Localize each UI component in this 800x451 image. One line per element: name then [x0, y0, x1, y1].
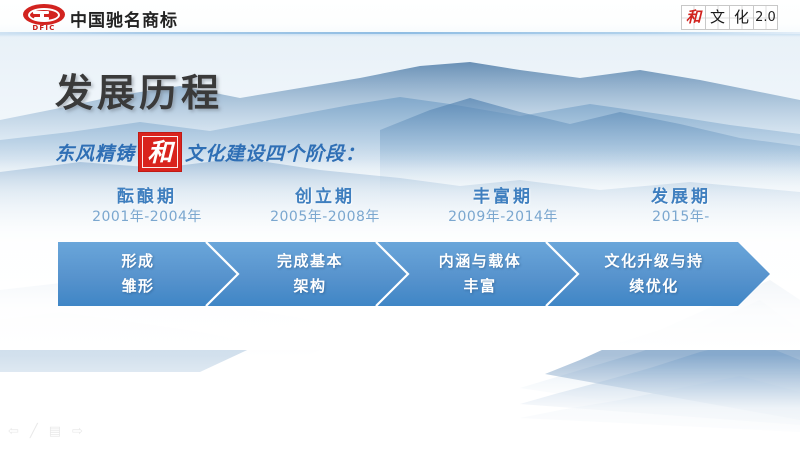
stage-name-2: 创立期 — [236, 186, 414, 208]
chevron-text-2: 完成基本 架构 — [230, 249, 390, 299]
chevron-text-3-line1: 内涵与载体 — [400, 249, 560, 274]
header-divider-glow — [0, 34, 800, 37]
badge-char-hua: 化 — [734, 10, 749, 25]
next-arrow-icon[interactable]: ⇨ — [72, 424, 83, 437]
badge-version-text: 2.0 — [755, 11, 776, 24]
chevron-text-4-line1: 文化升级与持 — [570, 249, 738, 274]
subtitle-prefix: 东风精铸 — [55, 139, 135, 166]
page-title: 发展历程 — [55, 62, 223, 117]
brand-name-cn: 中国驰名商标 — [70, 6, 178, 31]
mist-fade-lower — [0, 355, 800, 451]
pen-icon[interactable]: ╱ — [30, 424, 38, 437]
stage-label-2: 创立期 2005年-2008年 — [236, 186, 414, 226]
chevron-text-3: 内涵与载体 丰富 — [400, 249, 560, 299]
stage-years-1: 2001年-2004年 — [58, 208, 236, 226]
chevron-text-2-line1: 完成基本 — [230, 249, 390, 274]
chevron-text-1: 形成 雏形 — [58, 249, 218, 299]
subtitle-suffix: 文化建设四个阶段： — [185, 139, 365, 166]
stage-name-4: 发展期 — [592, 186, 770, 208]
chevron-text-4: 文化升级与持 续优化 — [570, 249, 738, 299]
logo-wordmark: DFIC — [23, 24, 65, 32]
he-seal-icon: 和 — [139, 133, 181, 171]
badge-char-he: 和 — [686, 10, 701, 25]
chevron-text-4-line2: 续优化 — [570, 274, 738, 299]
logo-oval-shape — [23, 4, 65, 25]
badge-cell-wen: 文 — [705, 5, 730, 30]
stage-labels-row: 酝酿期 2001年-2004年 创立期 2005年-2008年 丰富期 2009… — [58, 186, 770, 238]
logo-foot-shape — [34, 17, 49, 20]
dfic-logo-icon: DFIC — [20, 4, 68, 32]
subtitle-line: 东风精铸 和 文化建设四个阶段： — [55, 132, 365, 172]
slide-canvas: DFIC 中国驰名商标 和 文 化 2.0 发展历程 东风精铸 和 文化建设四个… — [0, 0, 800, 451]
stage-years-3: 2009年-2014年 — [414, 208, 592, 226]
badge-cell-he: 和 — [681, 5, 706, 30]
stage-label-3: 丰富期 2009年-2014年 — [414, 186, 592, 226]
badge-cell-hua: 化 — [729, 5, 754, 30]
menu-icon[interactable]: ▤ — [49, 424, 61, 437]
stage-name-3: 丰富期 — [414, 186, 592, 208]
chevron-text-3-line2: 丰富 — [400, 274, 560, 299]
stage-name-1: 酝酿期 — [58, 186, 236, 208]
stage-label-4: 发展期 2015年- — [592, 186, 770, 226]
stage-years-4: 2015年- — [592, 208, 770, 226]
chevron-text-2-line2: 架构 — [230, 274, 390, 299]
he-seal-char: 和 — [148, 140, 173, 165]
stage-label-1: 酝酿期 2001年-2004年 — [58, 186, 236, 226]
badge-cell-version: 2.0 — [753, 5, 778, 30]
stage-years-2: 2005年-2008年 — [236, 208, 414, 226]
chevron-text-1-line1: 形成 — [58, 249, 218, 274]
timeline-chevron-bar: 形成 雏形 完成基本 架构 内涵与载体 丰富 文化升级与持 续优化 — [58, 242, 770, 306]
prev-arrow-icon[interactable]: ⇦ — [8, 424, 19, 437]
badge-char-wen: 文 — [710, 10, 725, 25]
chevron-text-1-line2: 雏形 — [58, 274, 218, 299]
hewenhua-badge: 和 文 化 2.0 — [682, 5, 778, 30]
presentation-nav-controls[interactable]: ⇦ ╱ ▤ ⇨ — [8, 424, 83, 437]
